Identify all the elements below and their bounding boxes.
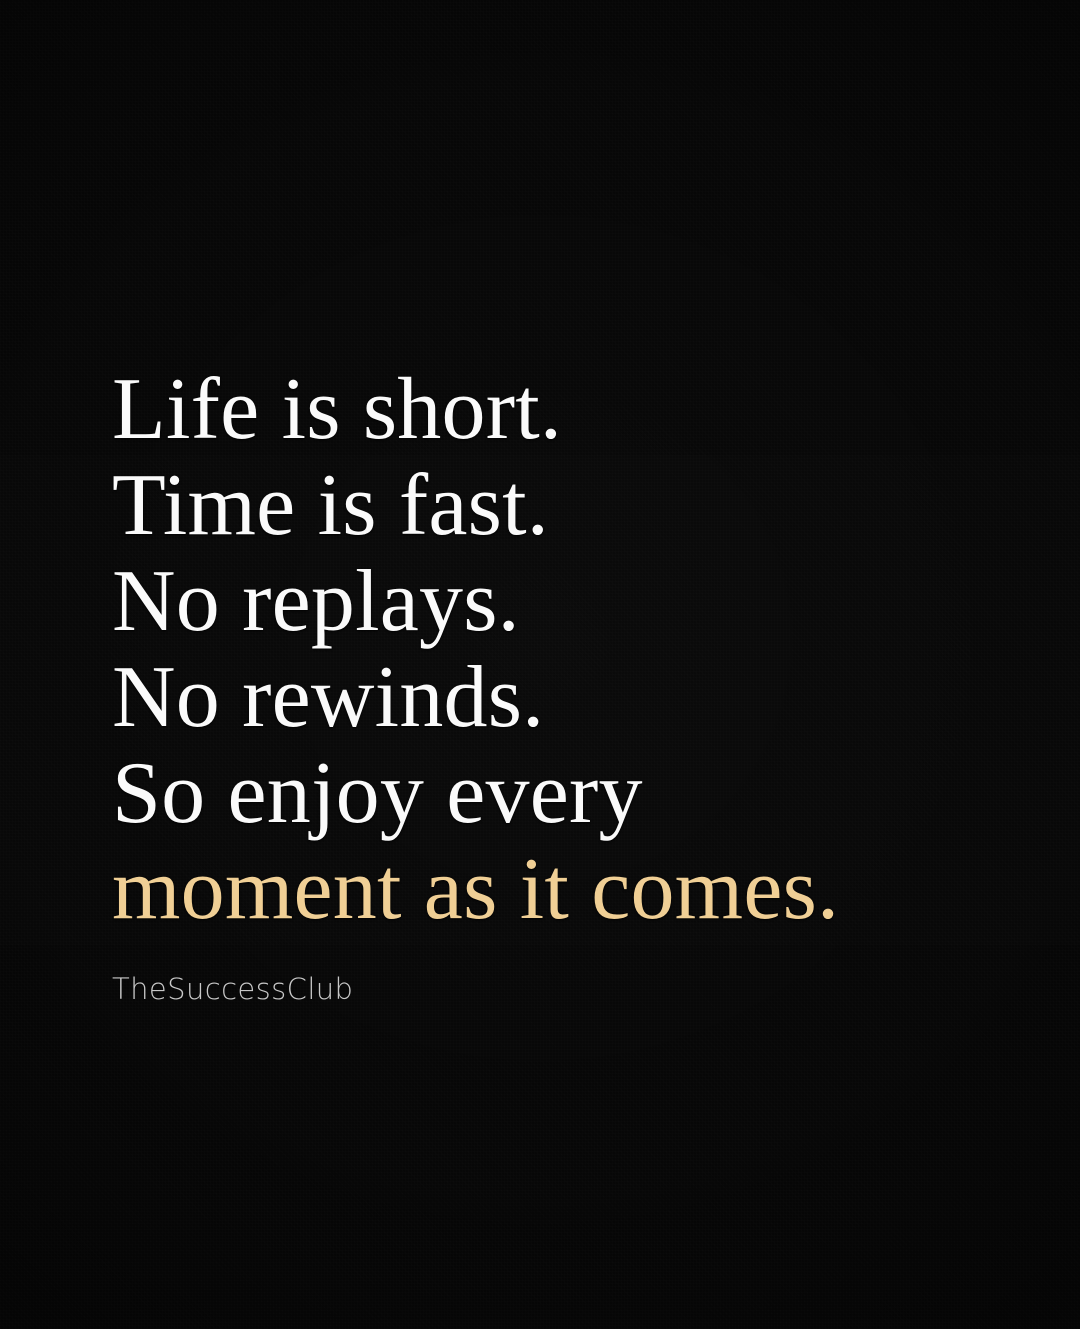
quote-line-5: So enjoy every [112, 746, 992, 842]
quote-line-2: Time is fast. [112, 458, 992, 554]
quote-text-block: Life is short. Time is fast. No replays.… [112, 362, 992, 938]
quote-line-3: No replays. [112, 554, 992, 650]
attribution-label: TheSuccessClub [112, 972, 353, 1006]
quote-line-6-accent: moment as it comes. [112, 842, 992, 938]
quote-image-canvas: Life is short. Time is fast. No replays.… [0, 0, 1080, 1329]
quote-line-1: Life is short. [112, 362, 992, 458]
quote-line-4: No rewinds. [112, 650, 992, 746]
